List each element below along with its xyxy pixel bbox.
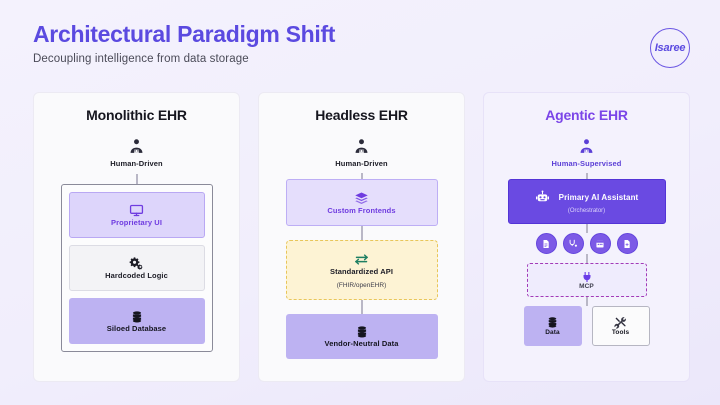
brand-logo: Isaree (642, 27, 698, 69)
node-label-proprietary-ui: Proprietary UI (111, 218, 162, 227)
panel-monolithic[interactable]: Monolithic EHR Human-Driven Proprietary … (33, 92, 240, 382)
connector-headless-bottom (361, 300, 363, 314)
node-tools[interactable]: Tools (592, 306, 650, 346)
sub-agent-stethoscope[interactable] (563, 233, 584, 254)
pill-agent-icon (622, 239, 632, 249)
database-icon (355, 325, 369, 339)
layers-icon (354, 191, 369, 206)
plug-icon (581, 271, 593, 283)
person-user-icon (127, 137, 146, 156)
gears-icon (129, 256, 144, 271)
agentic-leaf-row: Data Tools (524, 306, 650, 346)
stethoscope-agent-icon (568, 239, 578, 249)
panel-agentic[interactable]: Agentic EHR Human-Supervised (483, 92, 690, 382)
node-sub-standardized-api: (FHIR/openEHR) (337, 282, 386, 289)
node-label-siloed-database: Siloed Database (107, 324, 166, 333)
node-label-tools: Tools (612, 329, 629, 336)
actor-agentic: Human-Supervised (552, 137, 622, 168)
primary-assistant-row: Primary AI Assistant (535, 190, 639, 205)
node-label-custom-frontends: Custom Frontends (327, 206, 395, 215)
monolithic-shell: Proprietary UI Hardcoded Logic (61, 184, 213, 352)
page-header: Architectural Paradigm Shift Decoupling … (33, 22, 335, 65)
document-agent-icon (541, 239, 551, 249)
node-mcp[interactable]: MCP (527, 263, 647, 297)
node-label-primary-ai-assistant: Primary AI Assistant (559, 193, 639, 202)
node-vendor-neutral-data[interactable]: Vendor-Neutral Data (286, 314, 438, 359)
node-sub-primary-ai-assistant: (Orchestrator) (568, 208, 605, 214)
monitor-icon (129, 203, 144, 218)
logo-text: Isaree (655, 42, 686, 54)
robot-icon (535, 190, 550, 205)
actor-monolithic: Human-Driven (110, 137, 162, 168)
node-proprietary-ui[interactable]: Proprietary UI (69, 192, 205, 238)
connector-headless-mid (361, 226, 363, 240)
sub-agent-document[interactable] (536, 233, 557, 254)
actor-label-monolithic: Human-Driven (110, 159, 162, 168)
sub-agent-pill[interactable] (617, 233, 638, 254)
actor-label-agentic: Human-Supervised (552, 159, 622, 168)
node-label-hardcoded-logic: Hardcoded Logic (105, 271, 168, 280)
database-icon (130, 310, 144, 324)
node-primary-ai-assistant[interactable]: Primary AI Assistant (Orchestrator) (508, 179, 666, 224)
panel-headless[interactable]: Headless EHR Human-Driven Custom Fronten… (258, 92, 465, 382)
panels-row: Monolithic EHR Human-Driven Proprietary … (33, 92, 690, 382)
person-user-icon (577, 137, 596, 156)
sub-agent-calendar[interactable] (590, 233, 611, 254)
actor-label-headless: Human-Driven (335, 159, 387, 168)
node-data[interactable]: Data (524, 306, 582, 346)
panel-title-monolithic: Monolithic EHR (86, 107, 187, 123)
connector-monolithic-top (136, 174, 138, 184)
node-siloed-database[interactable]: Siloed Database (69, 298, 205, 344)
node-label-vendor-neutral-data: Vendor-Neutral Data (325, 339, 399, 348)
panel-title-agentic: Agentic EHR (545, 107, 628, 123)
node-custom-frontends[interactable]: Custom Frontends (286, 179, 438, 226)
calendar-agent-icon (595, 239, 605, 249)
sub-agents-row (536, 233, 638, 254)
actor-headless: Human-Driven (335, 137, 387, 168)
tools-icon (614, 316, 627, 329)
node-hardcoded-logic[interactable]: Hardcoded Logic (69, 245, 205, 291)
connector-agentic-agents (586, 224, 588, 233)
node-label-standardized-api: Standardized API (330, 267, 393, 276)
page-subtitle: Decoupling intelligence from data storag… (33, 53, 335, 65)
database-icon (546, 316, 559, 329)
person-user-icon (352, 137, 371, 156)
exchange-arrows-icon (354, 252, 369, 267)
node-standardized-api[interactable]: Standardized API (FHIR/openEHR) (286, 240, 438, 300)
connector-agentic-leaves (586, 297, 588, 306)
node-label-data: Data (545, 329, 560, 336)
node-label-mcp: MCP (579, 283, 594, 290)
page-title: Architectural Paradigm Shift (33, 22, 335, 47)
connector-agentic-mcp (586, 254, 588, 263)
panel-title-headless: Headless EHR (315, 107, 408, 123)
